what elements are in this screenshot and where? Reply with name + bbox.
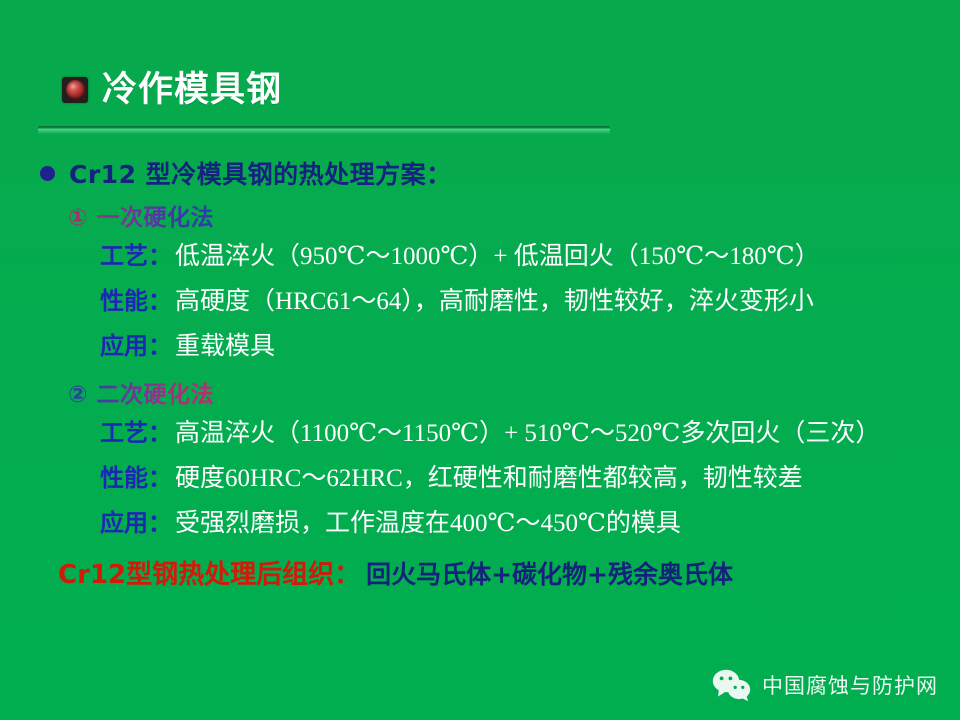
section-1-row-process: 工艺： 低温淬火（950℃～1000℃）+ 低温回火（150℃～180℃） bbox=[0, 236, 960, 281]
row-label: 应用： bbox=[100, 503, 172, 538]
conclusion-title: Cr12型钢热处理后组织： bbox=[58, 554, 360, 591]
row-label: 性能： bbox=[100, 458, 172, 493]
slide-body: Cr12 型冷模具钢的热处理方案： ① 一次硬化法 工艺： 低温淬火（950℃～… bbox=[0, 152, 960, 602]
row-label: 应用： bbox=[100, 326, 172, 361]
row-label: 工艺： bbox=[100, 236, 172, 271]
watermark-label: 中国腐蚀与防护网 bbox=[762, 670, 938, 700]
row-value: 重载模具 bbox=[175, 326, 275, 362]
main-heading-label: Cr12 型冷模具钢的热处理方案： bbox=[69, 155, 452, 191]
section-2-row-property: 性能： 硬度60HRC～62HRC，红硬性和耐磨性都较高，韧性较差 bbox=[0, 458, 960, 503]
row-label: 工艺： bbox=[100, 413, 172, 448]
section-2-marker: ② 二次硬化法 bbox=[0, 371, 960, 413]
row-value: 受强烈磨损，工作温度在400℃～450℃的模具 bbox=[175, 503, 681, 539]
row-value: 高温淬火（1100℃～1150℃）+ 510℃～520℃多次回火（三次） bbox=[175, 413, 880, 449]
red-sphere-bullet-icon bbox=[62, 77, 88, 103]
row-label: 性能： bbox=[100, 281, 172, 316]
section-2-label: ② 二次硬化法 bbox=[68, 375, 214, 409]
row-value: 低温淬火（950℃～1000℃）+ 低温回火（150℃～180℃） bbox=[175, 236, 820, 272]
title-divider bbox=[38, 126, 610, 129]
section-2-row-application: 应用： 受强烈磨损，工作温度在400℃～450℃的模具 bbox=[0, 503, 960, 548]
section-1-row-property: 性能： 高硬度（HRC61～64），高耐磨性，韧性较好，淬火变形小 bbox=[0, 281, 960, 326]
slide-title-row: 冷作模具钢 bbox=[62, 72, 282, 107]
main-heading: Cr12 型冷模具钢的热处理方案： bbox=[0, 152, 960, 194]
conclusion-body: 回火马氏体+碳化物+残余奥氏体 bbox=[366, 555, 733, 591]
section-1-marker: ① 一次硬化法 bbox=[0, 194, 960, 236]
conclusion-row: Cr12型钢热处理后组织： 回火马氏体+碳化物+残余奥氏体 bbox=[0, 554, 960, 602]
wechat-icon bbox=[712, 668, 752, 702]
section-2-row-process: 工艺： 高温淬火（1100℃～1150℃）+ 510℃～520℃多次回火（三次） bbox=[0, 413, 960, 458]
page-title: 冷作模具钢 bbox=[102, 72, 282, 107]
row-value: 高硬度（HRC61～64），高耐磨性，韧性较好，淬火变形小 bbox=[175, 281, 814, 317]
slide-canvas: 冷作模具钢 Cr12 型冷模具钢的热处理方案： ① 一次硬化法 工艺： 低温淬火… bbox=[0, 0, 960, 720]
bullet-dot-icon bbox=[40, 166, 55, 181]
section-1-row-application: 应用： 重载模具 bbox=[0, 326, 960, 371]
section-1-label: ① 一次硬化法 bbox=[68, 198, 214, 232]
watermark: 中国腐蚀与防护网 bbox=[712, 668, 938, 702]
row-value: 硬度60HRC～62HRC，红硬性和耐磨性都较高，韧性较差 bbox=[175, 458, 803, 494]
